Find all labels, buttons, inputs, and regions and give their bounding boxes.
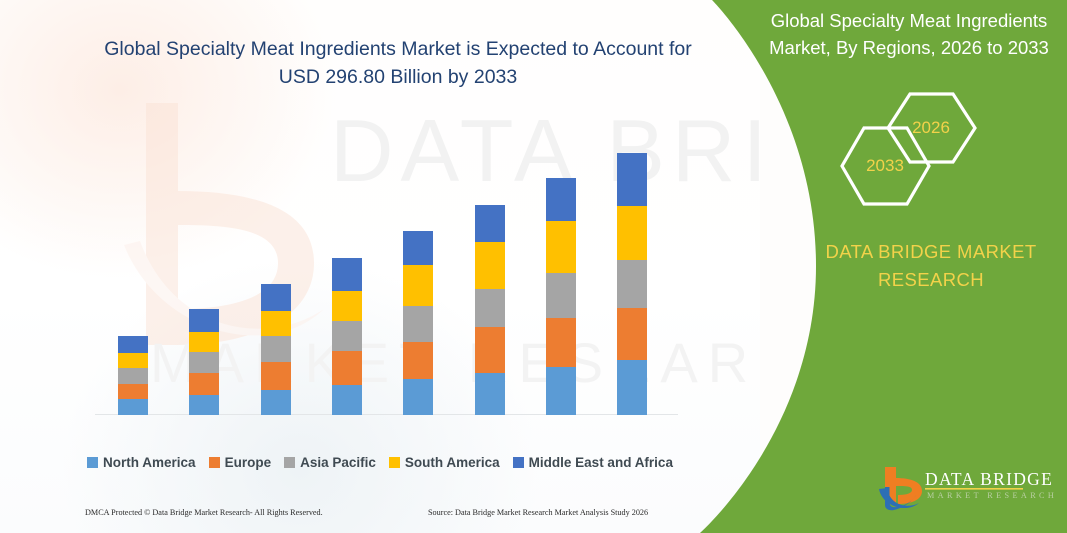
plot-area: 20262027202820292030203120322033 — [95, 130, 680, 415]
bar-segment[interactable] — [403, 265, 433, 306]
bar-segment[interactable] — [403, 231, 433, 265]
footer-copyright: DMCA Protected © Data Bridge Market Rese… — [85, 508, 323, 517]
logo-company-name: DATA BRIDGE — [925, 469, 1053, 490]
logo-tagline: MARKET RESEARCH — [927, 491, 1057, 500]
bar-segment[interactable] — [475, 242, 505, 289]
hexagon-outlines — [820, 88, 1020, 208]
bar-segment[interactable] — [332, 258, 362, 291]
bar-group[interactable] — [617, 153, 647, 415]
bar-segment[interactable] — [189, 373, 219, 395]
bar-segment[interactable] — [118, 336, 148, 353]
x-axis-baseline — [95, 414, 678, 415]
bar-segment[interactable] — [546, 273, 576, 318]
chart-panel: DATA BRIDGE MARKET RESEARCH Global Speci… — [0, 0, 760, 533]
legend-swatch — [209, 457, 220, 468]
legend-swatch — [513, 457, 524, 468]
legend-label: Middle East and Africa — [529, 455, 673, 470]
infographic-canvas: DATA BRIDGE MARKET RESEARCH Global Speci… — [0, 0, 1067, 533]
bar-segment[interactable] — [475, 205, 505, 242]
company-logo: DATA BRIDGE MARKET RESEARCH — [878, 465, 1050, 513]
footer-source: Source: Data Bridge Market Research Mark… — [428, 508, 648, 517]
hexagon-2026-label: 2026 — [896, 118, 966, 138]
bar-segment[interactable] — [261, 284, 291, 311]
bar-segment[interactable] — [475, 327, 505, 373]
legend: North AmericaEuropeAsia PacificSouth Ame… — [0, 455, 760, 470]
bar-segment[interactable] — [332, 321, 362, 351]
bar-segment[interactable] — [546, 178, 576, 221]
bar-segment[interactable] — [617, 260, 647, 307]
bar-group[interactable] — [332, 258, 362, 415]
legend-item[interactable]: North America — [87, 455, 196, 470]
legend-item[interactable]: Europe — [209, 455, 272, 470]
bar-segment[interactable] — [546, 221, 576, 273]
legend-item[interactable]: Asia Pacific — [284, 455, 376, 470]
bar-segment[interactable] — [189, 395, 219, 415]
panel-title: Global Specialty Meat Ingredients Market… — [758, 8, 1060, 62]
legend-label: North America — [103, 455, 196, 470]
bar-segment[interactable] — [546, 318, 576, 367]
bar-segment[interactable] — [261, 362, 291, 390]
bar-group[interactable] — [261, 284, 291, 415]
chart-title: Global Specialty Meat Ingredients Market… — [98, 36, 698, 91]
legend-item[interactable]: Middle East and Africa — [513, 455, 673, 470]
bar-group[interactable] — [189, 309, 219, 415]
bar-segment[interactable] — [118, 399, 148, 415]
bar-segment[interactable] — [475, 289, 505, 327]
bar-segment[interactable] — [118, 368, 148, 384]
bar-segment[interactable] — [189, 309, 219, 332]
hexagon-2033-label: 2033 — [850, 156, 920, 176]
bar-group[interactable] — [475, 205, 505, 415]
legend-swatch — [389, 457, 400, 468]
bar-segment[interactable] — [546, 367, 576, 415]
bar-segment[interactable] — [403, 306, 433, 342]
hexagon-group: 2026 2033 — [820, 88, 1020, 208]
bar-segment[interactable] — [118, 353, 148, 368]
legend-label: South America — [405, 455, 500, 470]
bar-segment[interactable] — [261, 336, 291, 362]
bar-segment[interactable] — [617, 153, 647, 206]
brand-name: DATA BRIDGE MARKET RESEARCH — [800, 238, 1062, 294]
bar-segment[interactable] — [403, 342, 433, 379]
bar-segment[interactable] — [475, 373, 505, 415]
legend-label: Asia Pacific — [300, 455, 376, 470]
bar-segment[interactable] — [189, 352, 219, 373]
bar-group[interactable] — [546, 178, 576, 415]
bar-segment[interactable] — [189, 332, 219, 352]
bar-segment[interactable] — [332, 351, 362, 385]
bar-segment[interactable] — [261, 390, 291, 415]
bar-segment[interactable] — [118, 384, 148, 399]
legend-label: Europe — [225, 455, 272, 470]
bar-segment[interactable] — [617, 308, 647, 360]
bar-segment[interactable] — [617, 360, 647, 415]
legend-item[interactable]: South America — [389, 455, 500, 470]
bar-segment[interactable] — [261, 311, 291, 336]
bar-segment[interactable] — [617, 206, 647, 260]
bar-segment[interactable] — [332, 385, 362, 415]
bar-group[interactable] — [403, 231, 433, 415]
bar-segment[interactable] — [332, 291, 362, 321]
legend-swatch — [87, 457, 98, 468]
bar-group[interactable] — [118, 336, 148, 415]
bar-segment[interactable] — [403, 379, 433, 415]
legend-swatch — [284, 457, 295, 468]
